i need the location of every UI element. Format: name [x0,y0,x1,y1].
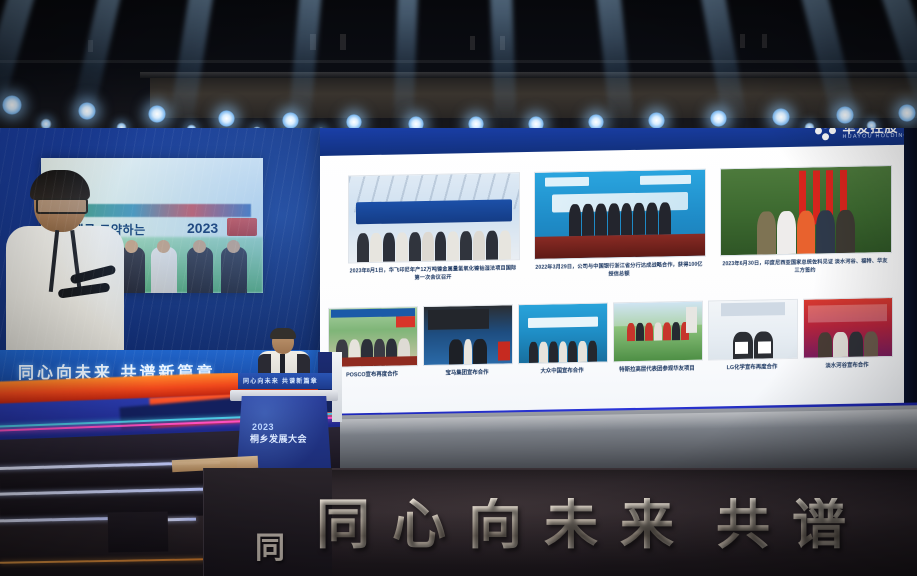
speaker-glasses [36,198,88,214]
podium-year: 2023 [252,422,274,432]
slide-person-head [157,240,170,253]
stage-light [836,106,854,124]
slide-top-photo-row: 2023年8月1日，华飞印尼年产12万吨镍金属量氢氧化镍钴湿法项目国际第一次会议… [348,165,893,284]
stage-light [218,110,235,127]
photo-people [535,194,705,237]
photo-card: 2023年8月1日，华飞印尼年产12万吨镍金属量氢氧化镍钴湿法项目国际第一次会议… [348,172,518,283]
photo-card: 大众中国宣布合作 [518,303,606,377]
podium-event-name: 桐乡发展大会 [250,432,307,445]
photo-people [721,199,891,256]
photo-caption: 2023年6月30日，印度尼西亚国家总统佐科见证 淡水河谷、福特、华友三方签约 [720,257,890,276]
rig-hanger-4 [500,36,505,50]
stage-light [898,104,916,122]
photo-indonesia-ceremony [720,165,892,256]
microphone-icon [70,265,117,285]
rig-hanger-3 [470,36,475,50]
speaker-hair [30,170,90,200]
photo-caption: 特斯拉高层代表团参观华友项目 [613,365,701,375]
photo-card: 宝马集团宣布合作 [423,304,511,378]
photo-tesla-visit [613,301,703,363]
slide-bottom-photo-row: POSCO宣布再度合作 宝马集团宣布合作 [328,297,910,380]
slide-header-bar: 华友控股 HUAYOU HOLDING [320,128,917,156]
slide-person [187,247,213,293]
photo-card: 2022年3月29日，公司与中国银行浙江省分行达成战略合作，获得100亿授信总额 [534,169,704,280]
photo-caption: 2022年3月29日，公司与中国银行浙江省分行达成战略合作，获得100亿授信总额 [534,261,704,280]
stage-light [282,112,299,129]
stage-front-slogan: 同 心 向 未 来 共 谱 [316,498,846,552]
slogan-char: 心 [392,498,446,552]
slide-korean-text: 세계를 도약하는 [61,221,146,238]
stage-light [2,95,22,115]
rig-hanger-1 [310,34,316,50]
rig-hanger-7 [88,40,93,52]
photo-caption: 2023年8月1日，华飞印尼年产12万吨镍金属量氢氧化镍钴湿法项目国际第一次会议… [348,264,518,283]
photo-bmw [423,304,513,366]
slide-green-graphic [41,237,263,293]
speaker-head [34,174,86,232]
slide-title-bar [55,204,251,217]
photo-lg-chem [708,299,798,361]
photo-people [349,223,519,262]
stage-light [772,108,790,126]
photo-launch-meeting [348,172,520,263]
photo-card: LG化学宣布再度合作 [708,299,796,373]
cabinet-glyph: 同 [255,523,285,567]
photo-backdrop-banner [356,199,512,224]
stage-light [648,112,665,129]
brand-name-en: HUAYOU HOLDING [842,133,909,140]
slide-person-head [125,240,138,253]
brand-lockup: 华友控股 HUAYOU HOLDING [815,128,909,141]
stage-light [78,102,96,120]
photo-caption: 大众中国宣布合作 [518,367,606,377]
slide-red-mark [227,218,257,236]
slide-person [119,247,145,293]
rig-hanger-2 [340,34,346,50]
photo-card: 特斯拉高层代表团参观华友项目 [613,301,701,375]
slogan-char: 未 [544,498,598,552]
live-feed-speaker [6,174,124,354]
speaker-lanyard [70,230,82,292]
step-riser [108,511,169,552]
photo-vale [803,297,893,359]
microphone-icon [58,282,111,298]
photo-card: 2023年6月30日，印度尼西亚国家总统佐科见证 淡水河谷、福特、华友三方签约 [720,165,890,276]
slogan-char: 谱 [792,498,846,552]
slogan-char: 来 [620,498,674,552]
slide-person-head [193,240,206,253]
slide-person-head [227,240,240,253]
slogan-char: 向 [468,498,522,552]
stage-light [710,110,727,127]
speaker-hair [270,328,296,339]
photo-bank-signing [534,169,706,260]
conference-stage-photo: 세계를 도약하는 2023 [0,0,917,576]
stage-white-wall [332,352,342,422]
floor-led-strip [0,558,206,564]
slogan-char: 共 [716,498,770,552]
photo-caption: LG化学宣布再度合作 [708,363,796,373]
photo-card: 淡水河谷宣布合作 [803,297,891,371]
photo-volkswagen [518,302,608,364]
projected-slide-in-feed: 세계를 도약하는 2023 [41,158,263,293]
ceiling-rail [0,60,917,63]
truss-beam [150,78,917,118]
led-slide-panel: 华友控股 HUAYOU HOLDING [320,128,917,420]
slide-year: 2023 [187,220,218,236]
speaker-body [6,226,124,356]
photo-caption: 宝马集团宣布合作 [423,368,511,378]
huayou-molecule-icon [815,128,837,141]
slogan-char: 同 [316,498,370,552]
speaker-lanyard [49,230,59,292]
right-wall [904,128,917,420]
slide-person [151,247,177,293]
rig-hanger-6 [762,34,767,48]
rig-hanger-5 [740,34,745,48]
stage-light [148,105,166,123]
podium-slogan: 同心向未来 共谱新篇章 [243,376,318,385]
podium-speaker [254,330,314,378]
photo-caption: 淡水河谷宣布合作 [803,361,891,371]
slide-person [221,247,247,293]
